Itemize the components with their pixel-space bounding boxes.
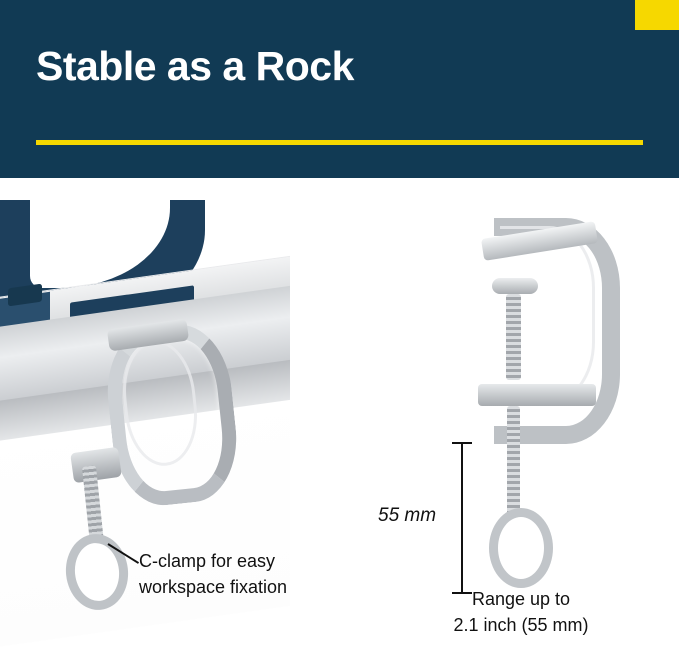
page-title: Stable as a Rock bbox=[36, 44, 354, 89]
header-band: Stable as a Rock bbox=[0, 0, 679, 178]
left-caption: C-clamp for easy workspace fixation bbox=[139, 548, 369, 600]
product-infographic: Stable as a Rock C-clamp for easy worksp… bbox=[0, 0, 679, 654]
left-caption-line-2: workspace fixation bbox=[139, 574, 369, 600]
corner-accent-block bbox=[635, 0, 679, 30]
left-caption-line-1: C-clamp for easy bbox=[139, 548, 369, 574]
right-clamp-eye-handle bbox=[489, 508, 553, 588]
photo-area: C-clamp for easy workspace fixation 55 m… bbox=[0, 178, 679, 654]
right-clamp-lower-screw bbox=[507, 406, 520, 516]
right-clamp-screw-head bbox=[492, 278, 538, 294]
title-underline-rule bbox=[36, 140, 643, 145]
dimension-label: 55 mm bbox=[378, 505, 436, 527]
right-caption: Range up to 2.1 inch (55 mm) bbox=[406, 586, 636, 638]
right-clamp-upper-screw bbox=[506, 294, 521, 380]
right-caption-line-1: Range up to bbox=[406, 586, 636, 612]
dimension-line bbox=[461, 443, 463, 593]
right-clamp-bottom-jaw bbox=[478, 384, 596, 406]
right-caption-line-2: 2.1 inch (55 mm) bbox=[406, 612, 636, 638]
